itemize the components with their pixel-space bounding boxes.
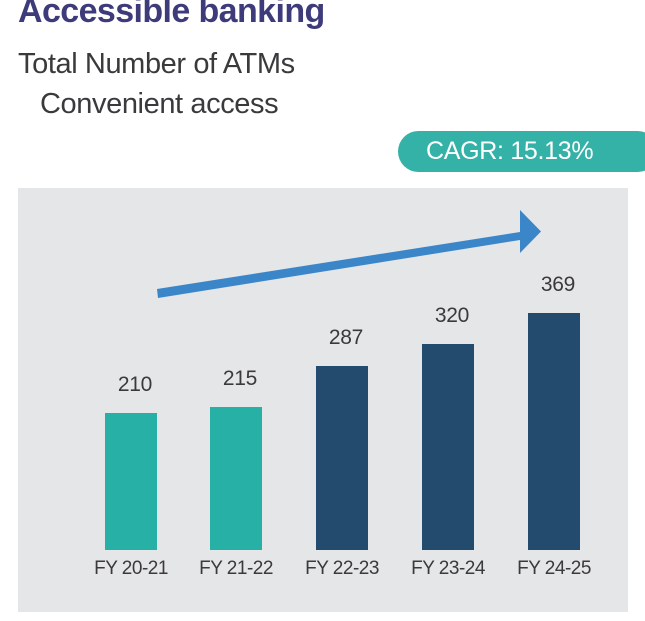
chart-subtitle-line-2: Convenient access — [40, 88, 278, 121]
bar-value-4: 369 — [518, 273, 598, 297]
x-axis-label-2: FY 22-23 — [282, 558, 402, 580]
x-axis-label-0: FY 20-21 — [71, 558, 191, 580]
bar-value-2: 287 — [306, 326, 386, 350]
x-axis-label-4: FY 24-25 — [494, 558, 614, 580]
plot-area: 210 215 287 320 369 FY 20-21 FY 21-22 FY… — [18, 188, 628, 612]
chart-subtitle-line-1: Total Number of ATMs — [18, 48, 295, 81]
bar-value-3: 320 — [412, 304, 492, 328]
cagr-badge: CAGR: 15.13% — [398, 131, 645, 172]
chart-header: Accessible banking Total Number of ATMs … — [0, 0, 645, 188]
bar-value-0: 210 — [95, 373, 175, 397]
bar-0 — [105, 413, 157, 550]
cagr-badge-label: CAGR: 15.13% — [426, 137, 593, 166]
bar-4 — [528, 313, 580, 550]
x-axis-label-1: FY 21-22 — [176, 558, 296, 580]
bar-3 — [422, 344, 474, 550]
bar-value-1: 215 — [200, 367, 280, 391]
bar-1 — [210, 407, 262, 550]
page-title: Accessible banking — [18, 0, 325, 31]
chart-panel: 210 215 287 320 369 FY 20-21 FY 21-22 FY… — [18, 188, 628, 612]
x-axis-label-3: FY 23-24 — [388, 558, 508, 580]
bar-2 — [316, 366, 368, 550]
